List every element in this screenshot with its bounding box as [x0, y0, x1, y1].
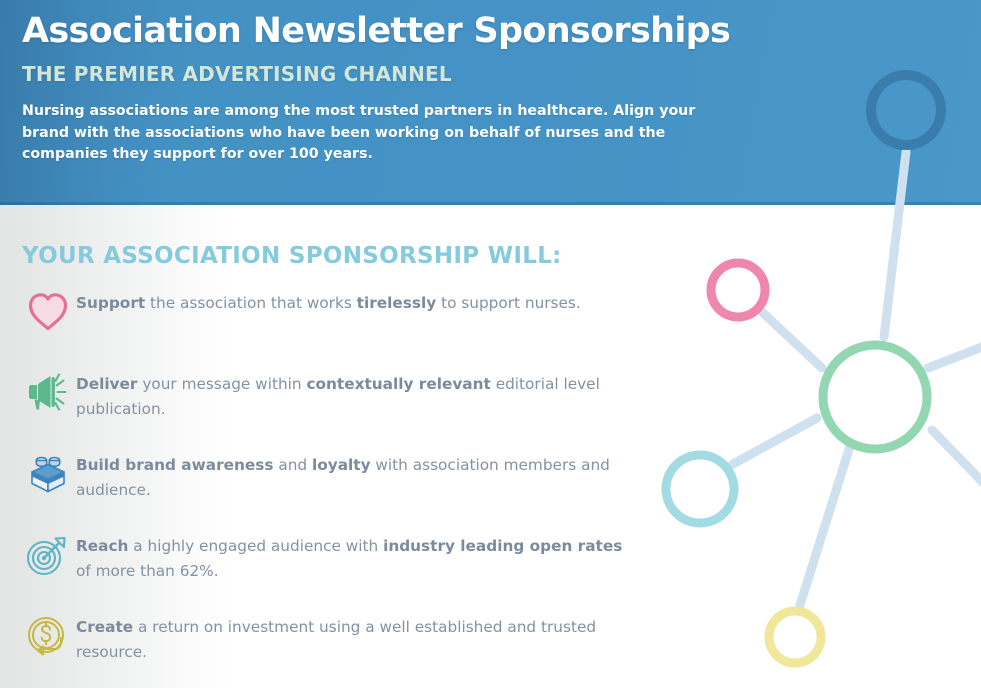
benefit-lead: Support: [76, 294, 145, 312]
list-item-text: Reach a highly engaged audience with ind…: [76, 532, 660, 584]
benefit-lead: Build brand awareness: [76, 456, 273, 474]
benefit-lead: Create: [76, 618, 133, 636]
page-title: Association Newsletter Sponsorships: [22, 8, 722, 54]
megaphone-icon: [20, 370, 76, 419]
list-item-text: Create a return on investment using a we…: [76, 613, 660, 665]
benefit-emphasis: tirelessly: [357, 294, 437, 312]
benefit-lead: Deliver: [76, 375, 137, 393]
heart-icon: [20, 289, 76, 338]
benefit-text-1: and: [273, 456, 312, 474]
section-heading: YOUR ASSOCIATION SPONSORSHIP WILL:: [22, 242, 562, 270]
dollar-coin-hand-icon: [20, 613, 76, 662]
list-item: Create a return on investment using a we…: [0, 613, 660, 667]
benefit-emphasis: contextually relevant: [306, 375, 490, 393]
benefit-text-1: the association that works: [145, 294, 356, 312]
benefit-text-1: a highly engaged audience with: [128, 537, 383, 555]
page-header: Association Newsletter Sponsorships THE …: [0, 0, 981, 205]
benefit-emphasis: loyalty: [312, 456, 371, 474]
target-dart-icon: [20, 532, 76, 581]
benefit-emphasis: industry leading open rates: [383, 537, 622, 555]
sponsorship-flyer-page: Association Newsletter Sponsorships THE …: [0, 0, 981, 688]
list-item: Deliver your message within contextually…: [0, 370, 660, 424]
list-item: Reach a highly engaged audience with ind…: [0, 532, 660, 586]
header-content: Association Newsletter Sponsorships THE …: [0, 0, 722, 166]
list-item: Build brand awareness and loyalty with a…: [0, 451, 660, 505]
benefit-lead: Reach: [76, 537, 128, 555]
page-body: YOUR ASSOCIATION SPONSORSHIP WILL: Suppo…: [0, 205, 981, 688]
benefit-text-1: your message within: [137, 375, 306, 393]
list-item: Support the association that works tirel…: [0, 289, 660, 343]
benefit-text-1: a return on investment using a well esta…: [76, 618, 596, 661]
building-block-icon: [20, 451, 76, 500]
benefit-text-2: to support nurses.: [436, 294, 581, 312]
list-item-text: Support the association that works tirel…: [76, 289, 660, 316]
list-item-text: Build brand awareness and loyalty with a…: [76, 451, 660, 503]
benefit-text-2: of more than 62%.: [76, 562, 219, 580]
list-item-text: Deliver your message within contextually…: [76, 370, 660, 422]
page-subtitle: THE PREMIER ADVERTISING CHANNEL: [22, 61, 722, 87]
benefits-list: Support the association that works tirel…: [0, 289, 660, 688]
header-intro-paragraph: Nursing associations are among the most …: [22, 101, 722, 166]
